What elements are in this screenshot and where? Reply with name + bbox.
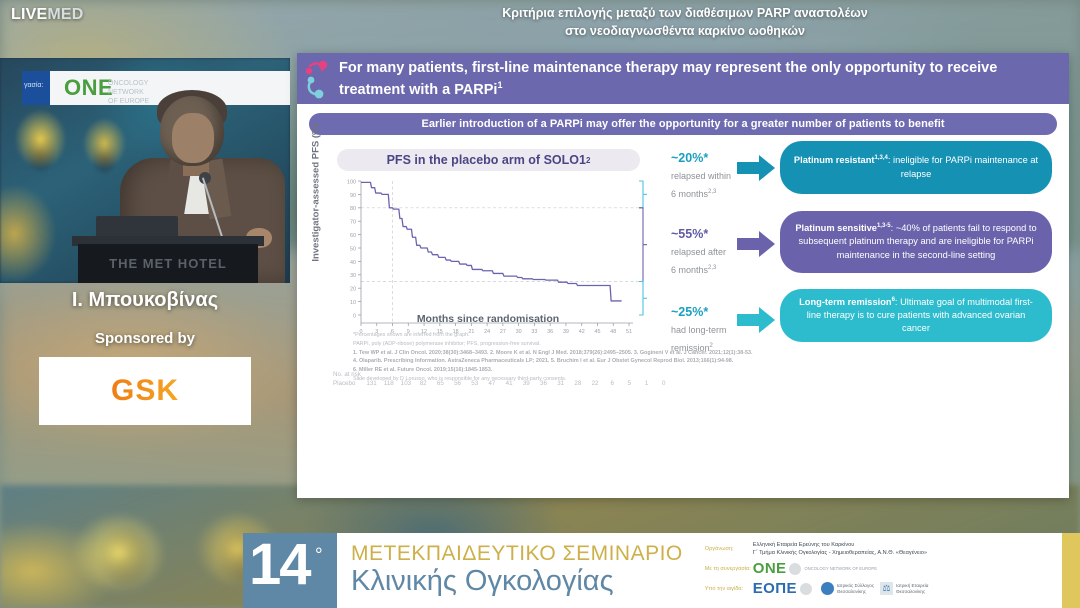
society-1-text: Ιατρική Εταιρεία Θεσσαλονίκης [896,583,928,595]
banner-organisers: Οργάνωση: Ελληνική Εταιρεία Ερεύνης του … [683,541,983,601]
svg-text:10: 10 [350,300,356,306]
society-0-line2: Θεσσαλονίκης [837,589,866,594]
callout-box-1-text: Platinum resistant1,3,4: ineligible for … [792,154,1040,180]
pill-wrapper: Earlier introduction of a PARPi may offe… [297,104,1069,135]
sponsor-logo-box[interactable]: GSK [39,357,251,425]
one-logo: ONE [753,560,787,577]
annotation-desc-2-line1: relapsed after [671,247,726,257]
annotation-desc-1-line1: relapsed within [671,171,731,181]
society-1-line1: Ιατρική Εταιρεία [896,583,928,588]
annotation-pct-2: ~55%* [671,227,733,241]
organiser-value-0: Ελληνική Εταιρεία Ερεύνης του Καρκίνου Γ… [753,541,927,558]
banner-title-2: Κλινικής Ογκολογίας [351,566,683,598]
banner-number: 14 [249,531,310,598]
organiser-key-2: Υπό την αιγίδα: [705,586,753,592]
banner-gold-strip [1062,533,1080,608]
annotation-desc-2-sup: 2,3 [708,265,716,271]
callout-box-3-bold: Long-term remission [799,297,891,307]
banner-left-spacer [0,533,243,608]
organiser-value-0-line1: Ελληνική Εταιρεία Ερεύνης του Καρκίνου [753,542,855,548]
eope-logo: ΕΟΠΕ [753,580,797,597]
livemed-logo[interactable]: LIVEMED [11,6,84,24]
session-title-line1: Κριτήρια επιλογής μεταξύ των διαθέσιμων … [290,4,1080,22]
callout-box-2: Platinum sensitive1,3-5: ~40% of patient… [780,211,1052,273]
video-slide-side-text: γασία: [24,82,43,89]
banner-edition-number: 14 ° [243,533,337,608]
callout-box-2-bold: Platinum sensitive [795,223,877,233]
footnote-0: *Percentages shown are inferred from the… [353,331,1053,340]
svg-text:70: 70 [350,220,356,226]
livemed-logo-secondary: MED [47,6,83,23]
key-message-pill: Earlier introduction of a PARPi may offe… [309,113,1057,135]
annotation-pct-3: ~25%* [671,305,733,319]
svg-text:80: 80 [350,206,356,212]
km-chart: 0102030405060708090100036912151821242730… [333,175,663,353]
slide-header-text: For many patients, first-line maintenanc… [339,60,997,97]
callout-box-1: Platinum resistant1,3,4: ineligible for … [780,141,1052,194]
banner-main: ΜΕΤΕΚΠΑΙΔΕΥΤΙΚΟ ΣΕΜΙΝΑΡΙΟ Κλινικής Ογκολ… [337,533,1062,608]
svg-text:90: 90 [350,193,356,199]
organiser-key-0: Οργάνωση: [705,546,753,552]
slide-footnotes: *Percentages shown are inferred from the… [353,331,1053,384]
annotation-text-1: ~20%* relapsed within 6 months2,3 [671,151,733,202]
society-0-text: Ιατρικός Σύλλογος Θεσσαλονίκης [837,583,874,595]
speaker-video[interactable]: γασία: ONE ONCOLOGYNETWORKOF EUROPE THE … [0,58,290,283]
footnote-1: PARPi, poly (ADP-ribose) polymerase inhi… [353,340,1053,349]
society-1-line2: Θεσσαλονίκης [896,589,925,594]
callout-box-1-sup: 1,3,4 [875,155,888,161]
annotation-desc-2-line2: 6 months [671,265,708,275]
banner-title-1: ΜΕΤΕΚΠΑΙΔΕΥΤΙΚΟ ΣΕΜΙΝΑΡΙΟ [351,543,683,566]
society-0: Ιατρικός Σύλλογος Θεσσαλονίκης [821,582,874,595]
speaker-face [172,113,214,163]
speaker-panel: γασία: ONE ONCOLOGYNETWORKOF EUROPE THE … [0,58,290,312]
slide-header: For many patients, first-line maintenanc… [297,53,1069,104]
eope-emblem-icon [800,583,812,595]
livemed-logo-primary: LIVE [11,6,47,23]
footnote-5: Slide developed by D Lorusso, who is res… [353,375,1053,384]
svg-text:20: 20 [350,287,356,293]
arrow-icon-3 [737,307,775,333]
video-slide-header: γασία: ONE ONCOLOGYNETWORKOF EUROPE [22,71,290,105]
callout-box-3-text: Long-term remission6: Ultimate goal of m… [792,296,1040,336]
annotation-desc-1: relapsed within 6 months2,3 [671,171,731,199]
svg-text:50: 50 [350,246,356,252]
km-plot: 0102030405060708090100036912151821242730… [333,175,663,353]
one-logo-sub: ONCOLOGY NETWORK OF EUROPE [804,566,877,571]
event-banner: 14 ° ΜΕΤΕΚΠΑΙΔΕΥΤΙΚΟ ΣΕΜΙΝΑΡΙΟ Κλινικής … [0,533,1080,608]
footnote-2: 1. Tew WP et al. J Clin Oncol. 2020;38(3… [353,349,1053,358]
organiser-value-0-line2: Γ΄ Τμήμα Κλινικής Ογκολογίας - Χημειοθερ… [753,550,927,556]
chart-title-text: PFS in the placebo arm of SOLO1 [387,153,586,167]
slide-header-superscript: 1 [497,80,502,90]
organiser-row-0: Οργάνωση: Ελληνική Εταιρεία Ερεύνης του … [705,541,983,558]
annotation-desc-1-line2: 6 months [671,189,708,199]
society-0-line1: Ιατρικός Σύλλογος [837,583,874,588]
chart-y-axis-label: Investigator-assessed PFS (%) [311,108,322,278]
organiser-key-1: Με τη συνεργασία: [705,566,753,572]
callout-box-2-text: Platinum sensitive1,3-5: ~40% of patient… [792,222,1040,262]
svg-text:100: 100 [347,179,356,185]
session-title: Κριτήρια επιλογής μεταξύ των διαθέσιμων … [290,4,1080,40]
annotation-desc-2: relapsed after 6 months2,3 [671,247,726,275]
one-emblem-icon [789,563,801,575]
sponsor-section: Sponsored by GSK [0,330,290,425]
svg-text:30: 30 [350,273,356,279]
annotation-pct-1: ~20%* [671,151,733,165]
organiser-row-1: Με τη συνεργασία: ONE ONCOLOGY NETWORK O… [705,560,983,577]
footnote-4: 6. Miller RE et al. Future Oncol. 2019;1… [353,366,1053,375]
callout-box-2-sup: 1,3-5 [877,223,891,229]
annotation-desc-1-sup: 2,3 [708,189,716,195]
chart-title-superscript: 2 [586,156,590,165]
society-0-icon [821,582,834,595]
speaker-name: Ι. Μπουκοβίνας [0,283,290,312]
chart-x-axis-label: Months since randomisation [343,313,633,325]
annotation-text-2: ~55%* relapsed after 6 months2,3 [671,227,733,278]
presentation-slide[interactable]: For many patients, first-line maintenanc… [297,53,1069,498]
sponsored-by-label: Sponsored by [0,330,290,347]
organiser-row-2: Υπό την αιγίδα: ΕΟΠΕ Ιατρικός Σύλλογος Θ… [705,580,983,597]
video-one-sublogo: ONCOLOGYNETWORKOF EUROPE [108,80,149,106]
footnote-3: 4. Olaparib. Prescribing Information. As… [353,357,1053,366]
podium-text: THE MET HOTEL [78,256,258,271]
society-1-icon: ⚖ [880,582,893,595]
session-title-line2: στο νεοδιαγνωσθέντα καρκίνο ωοθηκών [290,22,1080,40]
banner-titles: ΜΕΤΕΚΠΑΙΔΕΥΤΙΚΟ ΣΕΜΙΝΑΡΙΟ Κλινικής Ογκολ… [337,543,683,598]
molecule-icon [302,57,336,101]
arrow-icon-2 [737,231,775,257]
society-1: ⚖ Ιατρική Εταιρεία Θεσσαλονίκης [880,582,928,595]
chart-title: PFS in the placebo arm of SOLO12 [337,149,640,171]
arrow-icon-1 [737,155,775,181]
svg-text:60: 60 [350,233,356,239]
svg-text:40: 40 [350,260,356,266]
callout-box-1-rest: : ineligible for PARPi maintenance at re… [888,155,1038,178]
gsk-logo: GSK [111,374,179,408]
video-one-logo: ONE [64,75,113,101]
banner-degree: ° [315,545,323,567]
callout-box-1-bold: Platinum resistant [794,155,875,165]
